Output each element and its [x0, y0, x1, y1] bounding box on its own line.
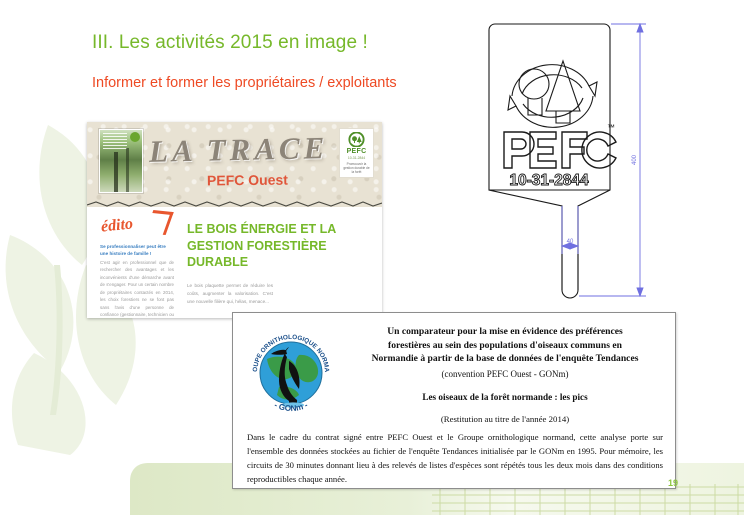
- gonm-title-line-1: Un comparateur pour la mise en évidence …: [345, 325, 665, 339]
- dimension-width-label: 40: [567, 239, 574, 245]
- newsletter-pefc-logo: PEFC 10-31-2844 Promouvoir la gestion du…: [339, 128, 374, 178]
- newsletter-body: édito Se professionnaliser peut être une…: [87, 207, 382, 318]
- newsletter-edito-body: C'est agir en professionnel que de reche…: [100, 259, 174, 318]
- gonm-logo: GROUPE ORNITHOLOGIQUE NORMAND - GONm -: [245, 325, 337, 417]
- dimension-height-label: 400: [632, 154, 638, 165]
- gonm-title-line-2: forestières au sein des populations d'oi…: [345, 339, 665, 353]
- newsletter-torn-edge-decoration: [87, 200, 382, 207]
- slide-canvas: III. Les activités 2015 en image ! Infor…: [0, 0, 744, 515]
- pefc-logo-tagline: Promouvoir la gestion durable de la forê…: [340, 162, 373, 174]
- pefc-logo-number: 10-31-2844: [348, 156, 365, 160]
- thumbnail-tree-trunk: [114, 152, 118, 192]
- thumbnail-pefc-badge-icon: [130, 132, 140, 142]
- thumbnail-tree-trunk-2: [126, 148, 129, 192]
- gonm-document-header: Un comparateur pour la mise en évidence …: [345, 325, 665, 424]
- page-subtitle: Informer et former les propriétaires / e…: [92, 75, 397, 91]
- certificate-number-text: 10-31-2844: [509, 172, 589, 189]
- newsletter-edito-lead: Se professionnaliser peut être une histo…: [100, 243, 174, 258]
- newsletter-title: LA TRACE: [149, 130, 329, 170]
- gonm-subtitle: Les oiseaux de la forêt normande : les p…: [345, 392, 665, 402]
- pefc-emblem-outline-icon: [508, 61, 597, 127]
- newsletter-image-la-trace[interactable]: LA TRACE PEFC Ouest PEFC 10-31-2844 Prom…: [87, 122, 382, 318]
- pefc-wordmark-outline: [504, 132, 616, 168]
- page-title: III. Les activités 2015 en image !: [92, 32, 368, 54]
- newsletter-headline: LE BOIS ÉNERGIE ET LA GESTION FORESTIÈRE…: [187, 221, 367, 271]
- gonm-restitution-line: (Restitution au titre de l'année 2014): [345, 414, 665, 424]
- newsletter-subtitle: PEFC Ouest: [207, 172, 288, 189]
- gonm-convention-line: (convention PEFC Ouest - GONm): [345, 369, 665, 379]
- pefc-plaque-technical-drawing[interactable]: ™ 10-31-2844 400 40: [468, 18, 673, 303]
- gonm-paragraph: Dans le cadre du contrat signé entre PEF…: [247, 431, 663, 487]
- edito-check-mark-icon: [145, 210, 173, 235]
- slide-page-number: 19: [668, 478, 678, 488]
- newsletter-cover-thumbnail: [99, 129, 143, 193]
- thumbnail-text-block: [103, 133, 127, 149]
- trademark-symbol: ™: [607, 123, 615, 132]
- gonm-title-line-3: Normandie à partir de la base de données…: [345, 352, 665, 366]
- gonm-report-document[interactable]: GROUPE ORNITHOLOGIQUE NORMAND - GONm - U…: [232, 312, 676, 489]
- newsletter-column-text: Le bois plaquette permet de réduire les …: [187, 282, 273, 306]
- pefc-logo-word: PEFC: [347, 148, 367, 155]
- pefc-tree-circle-icon: [347, 132, 366, 147]
- newsletter-edito-label: édito: [100, 215, 134, 236]
